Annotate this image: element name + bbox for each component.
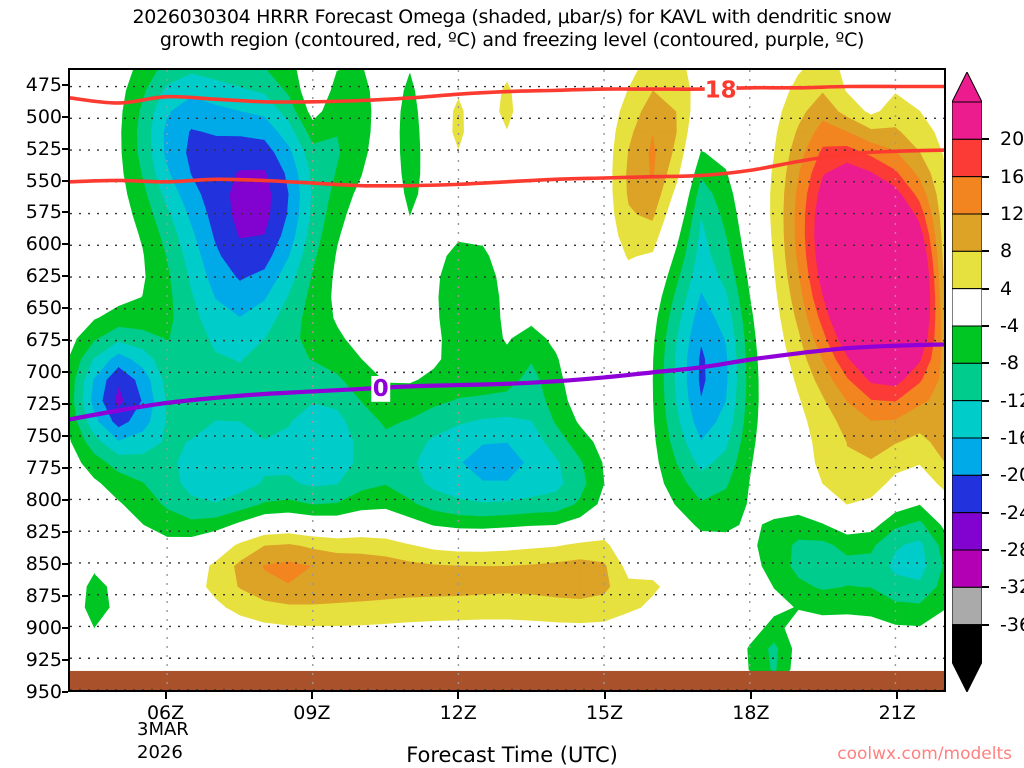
y-axis-label-925: 925 bbox=[26, 649, 62, 671]
y-axis-label-500: 500 bbox=[26, 106, 62, 128]
y-axis-label-900: 900 bbox=[26, 617, 62, 639]
colorbar-label-neg12: -12 bbox=[1000, 390, 1024, 412]
x-axis-label-18Z: 18Z bbox=[732, 702, 769, 724]
colorbar-label-neg36: -36 bbox=[1000, 614, 1024, 636]
colorbar-tick bbox=[982, 362, 989, 364]
y-axis-label-825: 825 bbox=[26, 521, 62, 543]
y-axis-label-950: 950 bbox=[26, 681, 62, 703]
colorbar-label-neg8: -8 bbox=[1000, 352, 1019, 374]
x-axis: 06Z09Z12Z15Z18Z21Z bbox=[68, 694, 946, 734]
svg-text:0: 0 bbox=[373, 376, 389, 402]
colorbar-label-8: 8 bbox=[1000, 240, 1012, 262]
colorbar-tick bbox=[982, 586, 989, 588]
colorbar-label-12: 12 bbox=[1000, 203, 1024, 225]
x-axis-tick bbox=[896, 692, 898, 699]
page-title: 2026030304 HRRR Forecast Omega (shaded, … bbox=[0, 6, 1024, 52]
y-axis-label-675: 675 bbox=[26, 329, 62, 351]
colorbar-tick bbox=[982, 474, 989, 476]
y-axis-label-725: 725 bbox=[26, 393, 62, 415]
x-axis-label-15Z: 15Z bbox=[586, 702, 623, 724]
chart-canvas: 180 bbox=[70, 70, 944, 690]
x-axis-label-12Z: 12Z bbox=[440, 702, 477, 724]
colorbar-tick bbox=[982, 288, 989, 290]
colorbar-tick bbox=[982, 325, 989, 327]
contour-lines: 180 bbox=[70, 70, 944, 690]
y-axis-label-475: 475 bbox=[26, 74, 62, 96]
colorbar-tick bbox=[982, 400, 989, 402]
title-line-2: growth region (contoured, red, ºC) and f… bbox=[0, 29, 1024, 52]
y-axis-label-700: 700 bbox=[26, 361, 62, 383]
y-axis-label-550: 550 bbox=[26, 170, 62, 192]
y-axis-label-575: 575 bbox=[26, 201, 62, 223]
colorbar-tick bbox=[982, 176, 989, 178]
colorbar-tick bbox=[982, 512, 989, 514]
x-axis-tick bbox=[604, 692, 606, 699]
y-axis-label-800: 800 bbox=[26, 489, 62, 511]
y-axis-label-650: 650 bbox=[26, 297, 62, 319]
watermark: coolwx.com/modelts bbox=[837, 744, 1012, 764]
title-line-1: 2026030304 HRRR Forecast Omega (shaded, … bbox=[0, 6, 1024, 29]
colorbar-label-4: 4 bbox=[1000, 278, 1012, 300]
colorbar-tick bbox=[982, 138, 989, 140]
x-axis-tick bbox=[457, 692, 459, 699]
colorbar-tick bbox=[982, 549, 989, 551]
y-axis-label-750: 750 bbox=[26, 425, 62, 447]
colorbar-tick bbox=[982, 213, 989, 215]
y-axis-label-600: 600 bbox=[26, 233, 62, 255]
colorbar-label-neg32: -32 bbox=[1000, 576, 1024, 598]
colorbar-label-neg16: -16 bbox=[1000, 427, 1024, 449]
colorbar-label-neg28: -28 bbox=[1000, 539, 1024, 561]
y-axis-label-850: 850 bbox=[26, 553, 62, 575]
colorbar-labels: 20161284-4-8-12-16-20-24-28-32-36 bbox=[988, 72, 1024, 692]
y-axis-label-625: 625 bbox=[26, 265, 62, 287]
y-axis-label-875: 875 bbox=[26, 585, 62, 607]
colorbar-label-neg4: -4 bbox=[1000, 315, 1019, 337]
colorbar-label-16: 16 bbox=[1000, 166, 1024, 188]
chart-plot-area[interactable]: 180 bbox=[68, 68, 946, 692]
colorbar-label-neg20: -20 bbox=[1000, 464, 1024, 486]
y-axis-label-775: 775 bbox=[26, 457, 62, 479]
y-axis-label-525: 525 bbox=[26, 138, 62, 160]
svg-text:18: 18 bbox=[705, 77, 737, 103]
x-axis-tick bbox=[311, 692, 313, 699]
colorbar-tick bbox=[982, 250, 989, 252]
colorbar-label-neg24: -24 bbox=[1000, 502, 1024, 524]
colorbar-tick bbox=[982, 437, 989, 439]
colorbar bbox=[952, 72, 982, 692]
x-axis-label-09Z: 09Z bbox=[293, 702, 330, 724]
x-axis-label-21Z: 21Z bbox=[879, 702, 916, 724]
colorbar-label-20: 20 bbox=[1000, 128, 1024, 150]
x-axis-tick bbox=[165, 692, 167, 699]
x-axis-tick bbox=[750, 692, 752, 699]
y-axis: 4755005255505756006256506757007257507758… bbox=[0, 68, 62, 692]
colorbar-tick bbox=[982, 624, 989, 626]
